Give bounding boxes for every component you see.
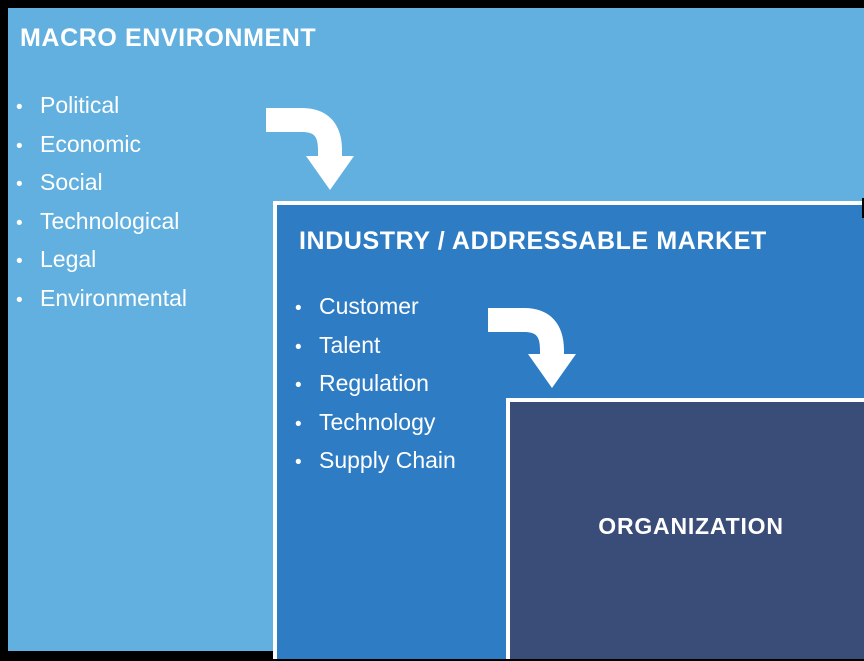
arrow-down-icon xyxy=(486,306,576,390)
organization-panel: ORGANIZATION xyxy=(506,398,864,659)
bullet-icon: • xyxy=(295,290,319,329)
bullet-icon: • xyxy=(16,282,40,321)
list-item-label: Economic xyxy=(40,125,141,164)
organization-title: ORGANIZATION xyxy=(598,513,784,540)
list-item-label: Political xyxy=(40,86,119,125)
list-item: • Political xyxy=(16,86,266,125)
list-item-label: Technological xyxy=(40,202,179,241)
bullet-icon: • xyxy=(16,128,40,167)
arrow-down-icon xyxy=(264,106,354,192)
list-item: • Technology xyxy=(295,403,525,442)
list-item-label: Environmental xyxy=(40,279,187,318)
list-item-label: Legal xyxy=(40,240,96,279)
list-item: • Economic xyxy=(16,125,266,164)
macro-environment-list: • Political • Economic • Social • Techno… xyxy=(16,86,266,317)
industry-addressable-market-title: INDUSTRY / ADDRESSABLE MARKET xyxy=(299,227,767,256)
list-item-label: Social xyxy=(40,163,103,202)
list-item-label: Supply Chain xyxy=(319,441,456,480)
bullet-icon: • xyxy=(16,205,40,244)
list-item-label: Regulation xyxy=(319,364,429,403)
list-item-label: Customer xyxy=(319,287,419,326)
diagram-canvas: MACRO ENVIRONMENT • Political • Economic… xyxy=(0,0,864,661)
bullet-icon: • xyxy=(295,406,319,445)
list-item: • Environmental xyxy=(16,279,266,318)
bullet-icon: • xyxy=(295,444,319,483)
list-item: • Legal xyxy=(16,240,266,279)
macro-environment-title: MACRO ENVIRONMENT xyxy=(20,24,316,53)
bullet-icon: • xyxy=(16,243,40,282)
macro-environment-panel: MACRO ENVIRONMENT • Political • Economic… xyxy=(8,8,864,651)
bullet-icon: • xyxy=(295,329,319,368)
list-item: • Social xyxy=(16,163,266,202)
list-item: • Technological xyxy=(16,202,266,241)
list-item-label: Talent xyxy=(319,326,380,365)
list-item: • Supply Chain xyxy=(295,441,525,480)
bullet-icon: • xyxy=(16,89,40,128)
list-item-label: Technology xyxy=(319,403,435,442)
bullet-icon: • xyxy=(295,367,319,406)
bullet-icon: • xyxy=(16,166,40,205)
